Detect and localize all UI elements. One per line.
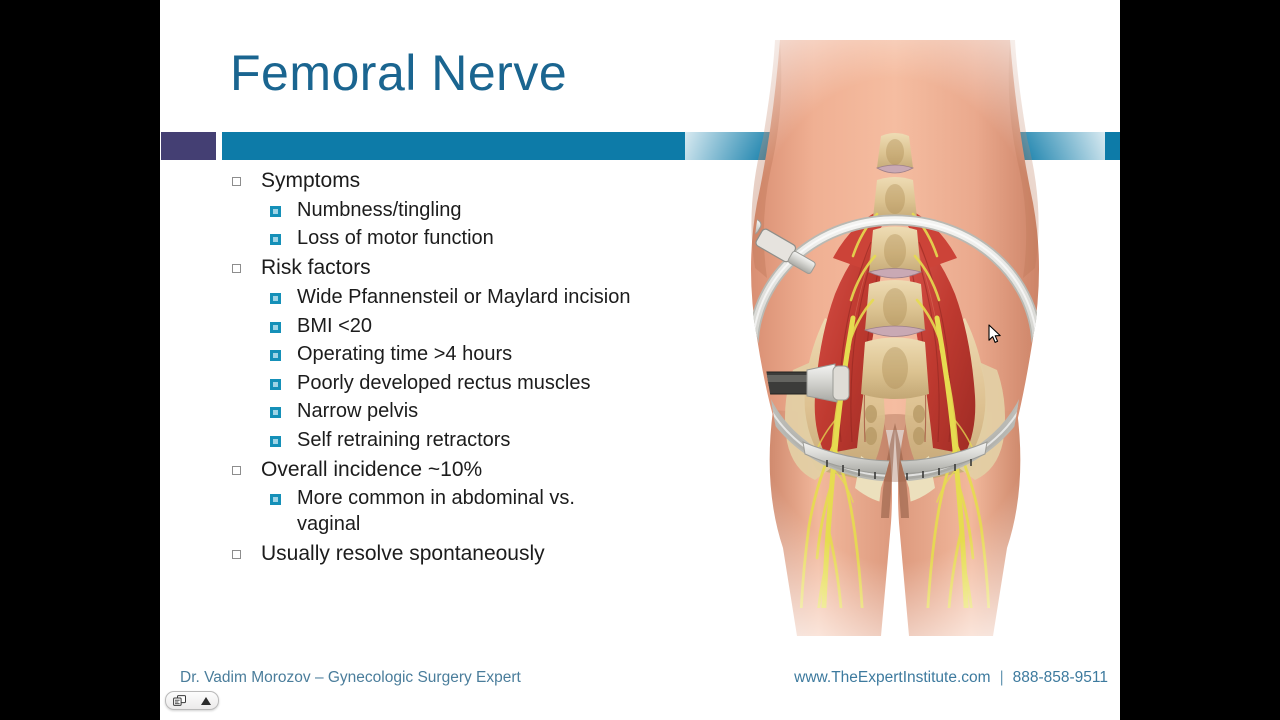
list-item: Poorly developed rectus muscles <box>222 371 642 397</box>
filled-square-bullet-icon <box>270 206 281 217</box>
list-item: Overall incidence ~10% <box>222 457 642 484</box>
list-item: Loss of motor function <box>222 226 642 252</box>
list-item-label: Self retraining retractors <box>297 428 510 454</box>
list-item-label: Overall incidence ~10% <box>261 457 482 484</box>
filled-square-bullet-icon <box>270 436 281 447</box>
list-item-label: More common in abdominal vs. vaginal <box>297 486 642 537</box>
list-item: Usually resolve spontaneously <box>222 541 642 568</box>
list-item-label: Wide Pfannensteil or Maylard incision <box>297 285 631 311</box>
page-title: Femoral Nerve <box>230 44 567 102</box>
filled-square-bullet-icon <box>270 407 281 418</box>
filled-square-bullet-icon <box>270 350 281 361</box>
slide-popout-icon[interactable] <box>173 695 186 706</box>
pelvis-femoral-nerve-illustration <box>685 18 1105 648</box>
triangle-up-icon[interactable] <box>201 697 211 705</box>
hollow-square-bullet-icon <box>232 177 241 186</box>
list-item-label: Operating time >4 hours <box>297 342 512 368</box>
list-item-label: Symptoms <box>261 168 360 195</box>
list-item: Narrow pelvis <box>222 399 642 425</box>
letterbox-left <box>0 0 160 720</box>
letterbox-right <box>1120 0 1280 720</box>
list-item: More common in abdominal vs. vaginal <box>222 486 642 537</box>
list-item-label: Numbness/tingling <box>297 198 462 224</box>
list-item-label: Narrow pelvis <box>297 399 418 425</box>
list-item: Wide Pfannensteil or Maylard incision <box>222 285 642 311</box>
video-player: Femoral Nerve Symptoms Numbness/tingling… <box>0 0 1280 720</box>
footer-website[interactable]: www.TheExpertInstitute.com <box>794 669 990 686</box>
filled-square-bullet-icon <box>270 293 281 304</box>
list-item-label: Risk factors <box>261 255 371 282</box>
filled-square-bullet-icon <box>270 494 281 505</box>
filled-square-bullet-icon <box>270 322 281 333</box>
list-item-label: Loss of motor function <box>297 226 494 252</box>
divider-accent-block <box>161 132 216 160</box>
list-item-label: Usually resolve spontaneously <box>261 541 545 568</box>
list-item: Operating time >4 hours <box>222 342 642 368</box>
list-item: Self retraining retractors <box>222 428 642 454</box>
list-item: Risk factors <box>222 255 642 282</box>
list-item-label: Poorly developed rectus muscles <box>297 371 590 397</box>
hollow-square-bullet-icon <box>232 550 241 559</box>
bullet-list: Symptoms Numbness/tingling Loss of motor… <box>222 168 642 570</box>
video-mini-toolbar[interactable] <box>165 691 219 710</box>
filled-square-bullet-icon <box>270 234 281 245</box>
presentation-slide: Femoral Nerve Symptoms Numbness/tingling… <box>160 0 1120 720</box>
footer-presenter: Dr. Vadim Morozov – Gynecologic Surgery … <box>180 669 521 687</box>
hollow-square-bullet-icon <box>232 466 241 475</box>
list-item: Symptoms <box>222 168 642 195</box>
list-item-label: BMI <20 <box>297 314 372 340</box>
footer-phone: 888-858-9511 <box>1013 669 1108 686</box>
filled-square-bullet-icon <box>270 379 281 390</box>
footer-separator: | <box>991 669 1013 686</box>
footer-contact: www.TheExpertInstitute.com|888-858-9511 <box>794 669 1108 687</box>
list-item: BMI <20 <box>222 314 642 340</box>
hollow-square-bullet-icon <box>232 264 241 273</box>
list-item: Numbness/tingling <box>222 198 642 224</box>
